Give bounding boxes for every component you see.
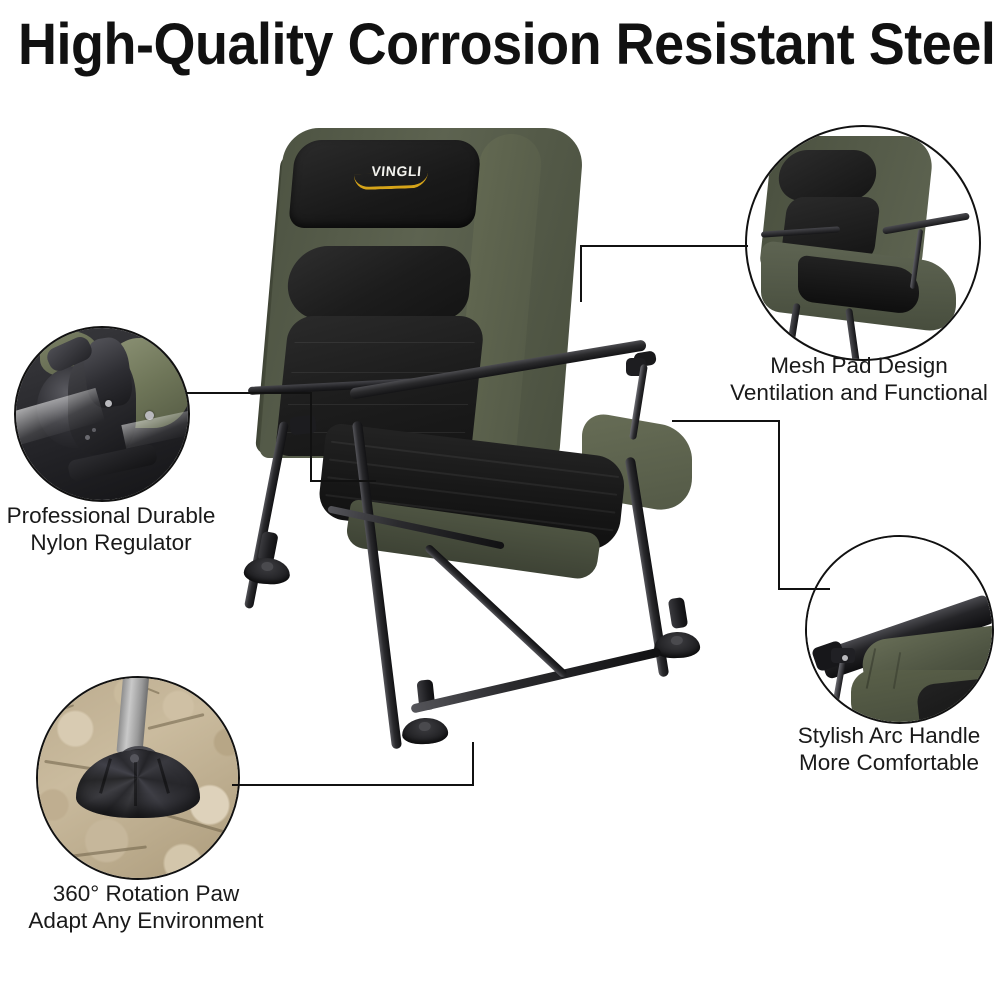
connector-paw-vertical xyxy=(472,742,474,786)
caption-rotation-paw-line1: 360° Rotation Paw xyxy=(26,880,266,907)
connector-mesh-pad-horizontal xyxy=(580,245,748,247)
caption-mesh-pad-line2: Ventilation and Functional xyxy=(730,379,988,406)
brand-swoosh-icon xyxy=(353,172,428,191)
connector-arc-handle-vertical xyxy=(778,420,780,590)
caption-arc-handle-line1: Stylish Arc Handle xyxy=(778,722,1000,749)
page-title: High-Quality Corrosion Resistant Steel xyxy=(18,12,920,78)
brand-logo: VINGLI xyxy=(347,164,445,190)
connector-paw-horizontal xyxy=(232,784,474,786)
caption-arc-handle-line2: More Comfortable xyxy=(778,749,1000,776)
connector-regulator-vertical xyxy=(310,392,312,482)
caption-rotation-paw-line2: Adapt Any Environment xyxy=(26,907,266,934)
chair-ankle-back-right xyxy=(668,597,688,629)
caption-rotation-paw: 360° Rotation Paw Adapt Any Environment xyxy=(26,880,266,934)
caption-mesh-pad-line1: Mesh Pad Design xyxy=(730,352,988,379)
product-infographic: High-Quality Corrosion Resistant Steel V… xyxy=(0,0,1000,1000)
connector-regulator-horizontal-bottom xyxy=(310,480,376,482)
caption-mesh-pad: Mesh Pad Design Ventilation and Function… xyxy=(730,352,988,406)
inset-nylon-regulator-closeup xyxy=(14,326,190,502)
chair-lumbar-pad xyxy=(285,246,473,320)
caption-arc-handle: Stylish Arc Handle More Comfortable xyxy=(778,722,1000,776)
inset-paw-on-ground-closeup xyxy=(36,676,240,880)
chair-cross-brace xyxy=(410,647,661,713)
caption-nylon-regulator: Professional Durable Nylon Regulator xyxy=(0,502,222,556)
connector-arc-handle-horizontal-bottom xyxy=(778,588,830,590)
chair-paw-front-left xyxy=(401,717,448,745)
caption-nylon-regulator-line1: Professional Durable xyxy=(0,502,222,529)
caption-nylon-regulator-line2: Nylon Regulator xyxy=(0,529,222,556)
inset-armrest-closeup xyxy=(805,535,994,724)
connector-mesh-pad-vertical xyxy=(580,245,582,302)
chair-left-rail-joint xyxy=(289,415,317,436)
inset-chair-seat-closeup xyxy=(745,125,981,361)
connector-arc-handle-horizontal-top xyxy=(672,420,780,422)
connector-regulator-horizontal-top xyxy=(186,392,312,394)
